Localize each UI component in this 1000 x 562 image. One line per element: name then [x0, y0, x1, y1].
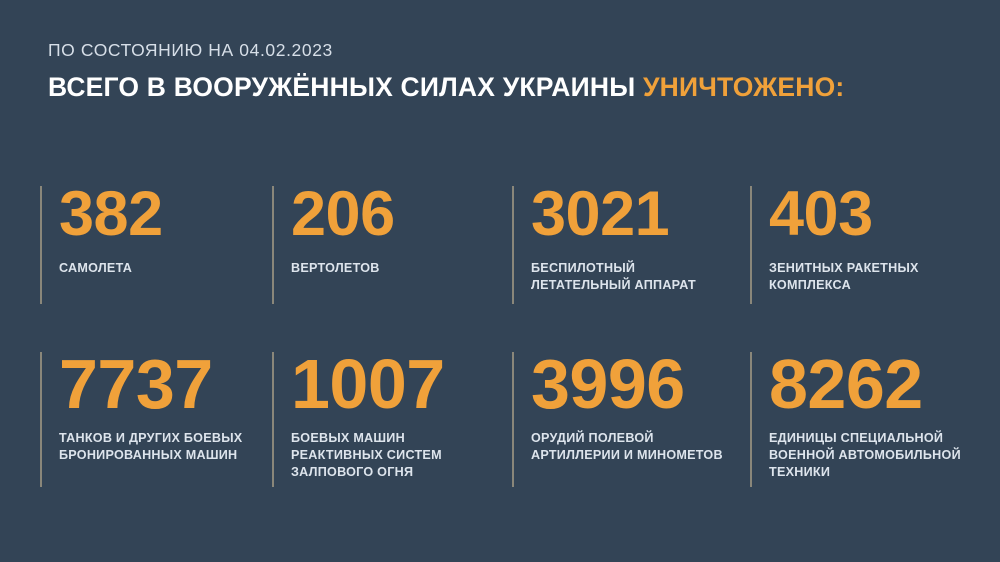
stat-cell-helicopters: 206 ВЕРТОЛЕТОВ	[272, 186, 512, 293]
stat-label: ЕДИНИЦЫ СПЕЦИАЛЬНОЙ ВОЕННОЙ АВТОМОБИЛЬНО…	[769, 430, 970, 480]
stat-cell-tanks: 7737 ТАНКОВ И ДРУГИХ БОЕВЫХ БРОНИРОВАННЫ…	[40, 352, 272, 480]
stat-cell-artillery: 3996 ОРУДИЙ ПОЛЕВОЙ АРТИЛЛЕРИИ И МИНОМЕТ…	[512, 352, 750, 480]
stat-cell-sam-systems: 403 ЗЕНИТНЫХ РАКЕТНЫХ КОМПЛЕКСА	[750, 186, 970, 293]
stat-label: ТАНКОВ И ДРУГИХ БОЕВЫХ БРОНИРОВАННЫХ МАШ…	[59, 430, 272, 463]
page-title: ВСЕГО В ВООРУЖЁННЫХ СИЛАХ УКРАИНЫ УНИЧТО…	[48, 72, 960, 102]
cell-divider	[512, 186, 514, 304]
stat-cell-aircraft: 382 САМОЛЕТА	[40, 186, 272, 293]
cell-divider	[40, 186, 42, 304]
headline-main-text: ВСЕГО В ВООРУЖЁННЫХ СИЛАХ УКРАИНЫ	[48, 72, 643, 102]
stat-value: 206	[291, 186, 512, 244]
stat-value: 382	[59, 186, 272, 244]
cell-divider	[272, 186, 274, 304]
stat-cell-uav: 3021 БЕСПИЛОТНЫЙ ЛЕТАТЕЛЬНЫЙ АППАРАТ	[512, 186, 750, 293]
cell-divider	[40, 352, 42, 487]
stat-value: 1007	[291, 352, 512, 416]
cell-divider	[750, 352, 752, 487]
stat-value: 8262	[769, 352, 970, 416]
stat-value: 7737	[59, 352, 272, 416]
stat-value: 3021	[531, 186, 750, 244]
stat-label: САМОЛЕТА	[59, 260, 272, 277]
header: ПО СОСТОЯНИЮ НА 04.02.2023 ВСЕГО В ВООРУ…	[48, 40, 960, 102]
stat-label: БОЕВЫХ МАШИН РЕАКТИВНЫХ СИСТЕМ ЗАЛПОВОГО…	[291, 430, 512, 480]
cell-divider	[512, 352, 514, 487]
stat-row-1: 382 САМОЛЕТА 206 ВЕРТОЛЕТОВ 3021 БЕСПИЛО…	[40, 186, 970, 293]
stat-value: 403	[769, 186, 970, 244]
cell-divider	[750, 186, 752, 304]
headline-accent-text: УНИЧТОЖЕНО:	[643, 72, 844, 102]
stat-cell-military-vehicles: 8262 ЕДИНИЦЫ СПЕЦИАЛЬНОЙ ВОЕННОЙ АВТОМОБ…	[750, 352, 970, 480]
stat-cell-mlrs: 1007 БОЕВЫХ МАШИН РЕАКТИВНЫХ СИСТЕМ ЗАЛП…	[272, 352, 512, 480]
stat-label: ЗЕНИТНЫХ РАКЕТНЫХ КОМПЛЕКСА	[769, 260, 970, 293]
infographic-poster: ПО СОСТОЯНИЮ НА 04.02.2023 ВСЕГО В ВООРУ…	[0, 0, 1000, 562]
stat-row-2: 7737 ТАНКОВ И ДРУГИХ БОЕВЫХ БРОНИРОВАННЫ…	[40, 352, 970, 480]
report-date-line: ПО СОСТОЯНИЮ НА 04.02.2023	[48, 40, 960, 61]
stat-label: БЕСПИЛОТНЫЙ ЛЕТАТЕЛЬНЫЙ АППАРАТ	[531, 260, 750, 293]
cell-divider	[272, 352, 274, 487]
stat-label: ОРУДИЙ ПОЛЕВОЙ АРТИЛЛЕРИИ И МИНОМЕТОВ	[531, 430, 750, 463]
stat-value: 3996	[531, 352, 750, 416]
stat-label: ВЕРТОЛЕТОВ	[291, 260, 512, 277]
